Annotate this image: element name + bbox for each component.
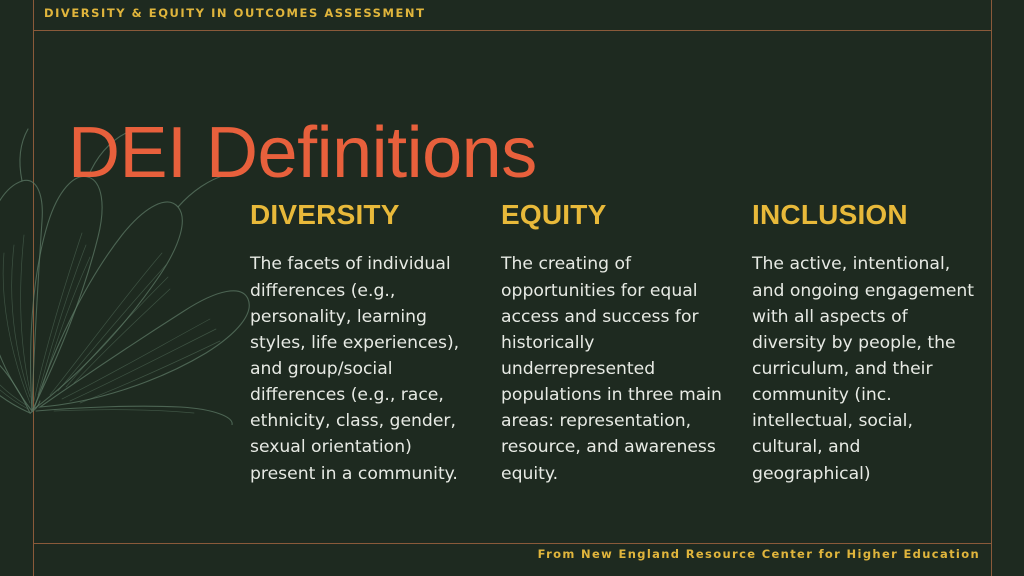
definition-heading-equity: EQUITY (501, 200, 725, 229)
definition-body-inclusion: The active, intentional, and ongoing eng… (752, 251, 980, 486)
slide-eyebrow-label: DIVERSITY & EQUITY IN OUTCOMES ASSESSMEN… (44, 6, 425, 20)
frame-line-bottom (33, 543, 992, 544)
page-title: DEI Definitions (68, 117, 537, 189)
frame-line-top (33, 30, 992, 31)
definition-body-diversity: The facets of individual differences (e.… (250, 251, 474, 486)
definition-body-equity: The creating of opportunities for equal … (501, 251, 725, 486)
definition-column-equity: EQUITY The creating of opportunities for… (501, 200, 725, 487)
definition-column-diversity: DIVERSITY The facets of individual diffe… (250, 200, 474, 487)
definitions-columns: DIVERSITY The facets of individual diffe… (250, 200, 980, 487)
slide-canvas: DIVERSITY & EQUITY IN OUTCOMES ASSESSMEN… (0, 0, 1024, 576)
definition-heading-inclusion: INCLUSION (752, 200, 980, 229)
definition-column-inclusion: INCLUSION The active, intentional, and o… (752, 200, 980, 487)
frame-line-left (33, 0, 34, 576)
definition-heading-diversity: DIVERSITY (250, 200, 474, 229)
source-attribution: From New England Resource Center for Hig… (538, 547, 980, 561)
frame-line-right (991, 0, 992, 576)
